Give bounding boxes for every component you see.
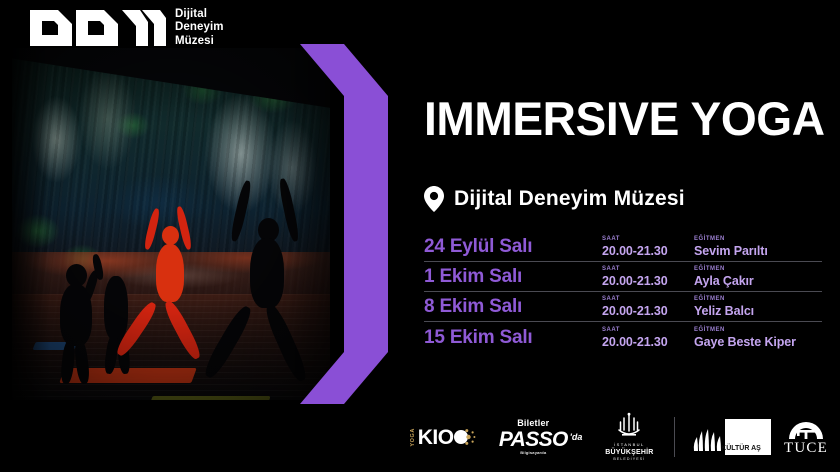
brand-logo[interactable]: Dijital Deneyim Müzesi: [28, 8, 224, 48]
ibb-line2: BÜYÜKŞEHİR: [605, 448, 653, 457]
schedule-time-field: SAAT 20.00-21.30: [602, 266, 694, 291]
schedule-time-value: 20.00-21.30: [602, 336, 694, 349]
schedule-instructor-label: EĞİTMEN: [694, 296, 822, 302]
event-info-panel: IMMERSIVE YOGA Dijital Deneyim Müzesi 24…: [418, 0, 840, 472]
schedule-time-label: SAAT: [602, 236, 694, 242]
istanbul-tulip-icon: [614, 412, 644, 442]
schedule-instructor-value: Ayla Çakır: [694, 275, 822, 288]
immersive-yoga-photo: [12, 48, 330, 400]
location-pin-icon: [424, 186, 444, 212]
kultur-as-logo[interactable]: KÜLTÜR AŞ: [685, 417, 772, 457]
schedule-time-value: 20.00-21.30: [602, 275, 694, 288]
schedule-instructor-field: EĞİTMEN Gaye Beste Kiper: [694, 327, 822, 352]
passo-name: PASSO: [499, 429, 568, 450]
schedule-instructor-label: EĞİTMEN: [694, 236, 822, 242]
passo-sub-label: Bilgisayarda: [520, 451, 546, 455]
schedule-instructor-field: EĞİTMEN Sevim Parıltı: [694, 236, 822, 261]
schedule-time-value: 20.00-21.30: [602, 245, 694, 258]
schedule-instructor-field: EĞİTMEN Ayla Çakır: [694, 266, 822, 291]
tuce-arch-icon: [786, 419, 826, 441]
schedule-time-field: SAAT 20.00-21.30: [602, 296, 694, 321]
schedule-time-field: SAAT 20.00-21.30: [602, 327, 694, 352]
ibb-logo[interactable]: İSTANBUL BÜYÜKŞEHİR BELEDİYESİ: [594, 412, 664, 462]
schedule-instructor-value: Sevim Parıltı: [694, 245, 822, 258]
schedule-date: 1 Ekim Salı: [424, 267, 602, 291]
tuce-name: TUCE: [784, 441, 828, 456]
schedule-date: 24 Eylül Salı: [424, 237, 602, 261]
kultur-as-flame-icon: KÜLTÜR AŞ: [687, 417, 771, 457]
svg-text:KÜLTÜR AŞ: KÜLTÜR AŞ: [721, 443, 761, 452]
passo-top-label: Biletler: [517, 419, 549, 428]
schedule-time-value: 20.00-21.30: [602, 305, 694, 318]
ibb-line3: BELEDİYESİ: [613, 457, 645, 462]
schedule-instructor-value: Gaye Beste Kiper: [694, 336, 822, 349]
page-title: IMMERSIVE YOGA: [424, 95, 825, 142]
footer-divider: [674, 417, 675, 457]
schedule-row[interactable]: 1 Ekim Salı SAAT 20.00-21.30 EĞİTMEN Ayl…: [424, 262, 822, 292]
schedule-time-label: SAAT: [602, 296, 694, 302]
schedule-time-field: SAAT 20.00-21.30: [602, 236, 694, 261]
schedule-row[interactable]: 8 Ekim Salı SAAT 20.00-21.30 EĞİTMEN Yel…: [424, 292, 822, 322]
schedule-instructor-value: Yeliz Balcı: [694, 305, 822, 318]
sponsor-logo-bar: YOGA KIO Biletler PASSO Bilgisayarda 'da: [400, 406, 840, 468]
schedule-row[interactable]: 24 Eylül Salı SAAT 20.00-21.30 EĞİTMEN S…: [424, 232, 822, 262]
photo-vignette: [12, 48, 330, 400]
tuce-logo[interactable]: TUCE: [772, 419, 840, 456]
schedule-row[interactable]: 15 Ekim Salı SAAT 20.00-21.30 EĞİTMEN Ga…: [424, 322, 822, 352]
schedule-date: 8 Ekim Salı: [424, 297, 602, 321]
ddm-monogram-icon: [28, 8, 166, 48]
venue-name: Dijital Deneyim Müzesi: [454, 187, 685, 211]
kio-yoga-label: YOGA: [411, 428, 417, 447]
sun-burst-icon: [450, 424, 476, 450]
venue-row: Dijital Deneyim Müzesi: [424, 186, 685, 212]
yoga-kio-logo[interactable]: YOGA KIO: [400, 424, 487, 450]
logo-wordmark: Dijital Deneyim Müzesi: [175, 8, 224, 48]
schedule-instructor-label: EĞİTMEN: [694, 266, 822, 272]
kio-name: KIO: [418, 427, 454, 448]
passo-suffix: 'da: [570, 433, 583, 442]
schedule-date: 15 Ekim Salı: [424, 328, 602, 352]
schedule-instructor-label: EĞİTMEN: [694, 327, 822, 333]
schedule-list: 24 Eylül Salı SAAT 20.00-21.30 EĞİTMEN S…: [424, 232, 822, 352]
purple-chevron-shape: [300, 44, 388, 404]
schedule-instructor-field: EĞİTMEN Yeliz Balcı: [694, 296, 822, 321]
schedule-time-label: SAAT: [602, 327, 694, 333]
passo-ticketing-logo[interactable]: Biletler PASSO Bilgisayarda 'da: [487, 419, 595, 455]
schedule-time-label: SAAT: [602, 266, 694, 272]
